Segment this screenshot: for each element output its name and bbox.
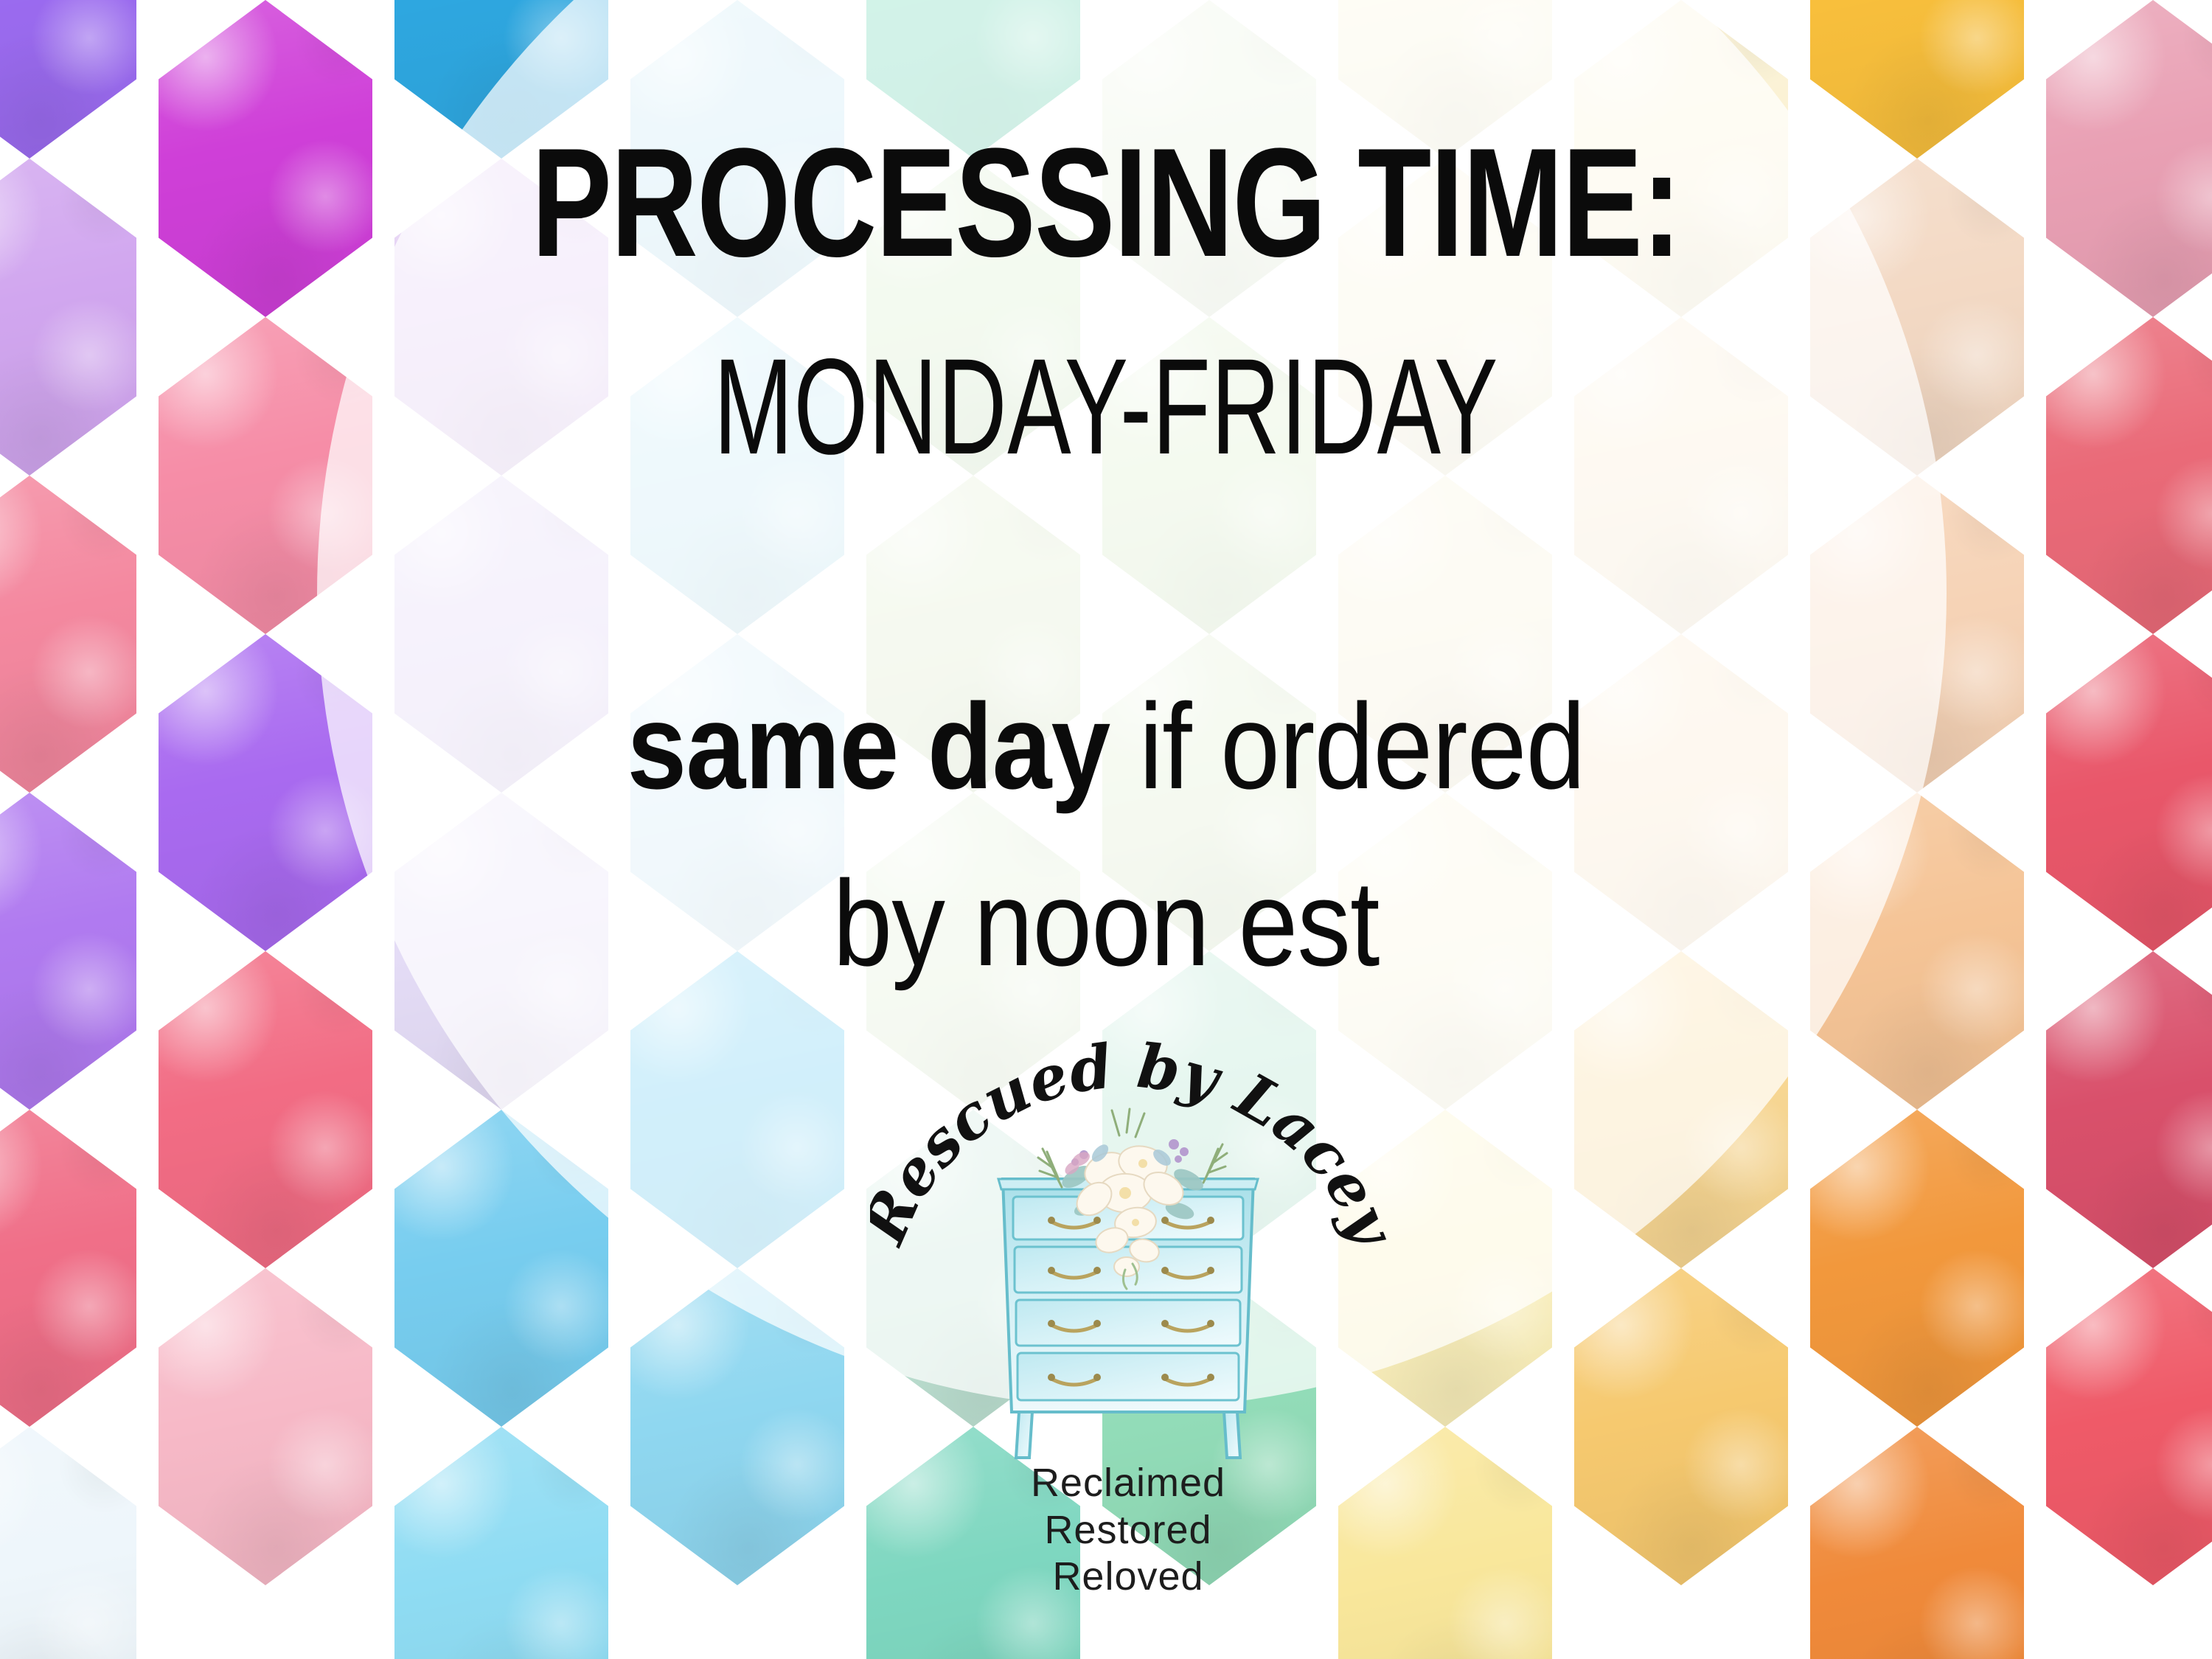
hexagon-tile — [2046, 0, 2212, 317]
hexagon-tile — [1574, 1268, 1788, 1585]
hexagon-tile — [1338, 1110, 1552, 1427]
hexagon-tile — [1102, 951, 1316, 1268]
hexagon-tile — [394, 1427, 608, 1659]
hexagon-tile — [630, 951, 844, 1268]
hexagon-tile — [1574, 317, 1788, 634]
hexagon-tile — [0, 0, 136, 159]
hexagon-tile — [1338, 476, 1552, 793]
hexagon-tile — [1810, 1110, 2024, 1427]
hexagon-tile — [1102, 317, 1316, 634]
hexagon-tile — [1338, 159, 1552, 476]
hexagon-tile — [159, 951, 372, 1268]
hexagon-tile — [1338, 793, 1552, 1110]
hexagon-tile — [394, 476, 608, 793]
hexagon-tile — [394, 0, 608, 159]
hexagon-tile — [866, 793, 1080, 1110]
hexagon-tile — [630, 1268, 844, 1585]
hexagon-tile — [1102, 0, 1316, 317]
hexagon-tile — [866, 159, 1080, 476]
hexagon-tile — [2046, 1268, 2212, 1585]
hexagon-tile — [159, 1268, 372, 1585]
hexagon-tile — [1574, 0, 1788, 317]
hexagon-tile — [1810, 159, 2024, 476]
hexagon-tile — [0, 159, 136, 476]
hexagon-tile — [159, 317, 372, 634]
hexagon-tile — [394, 1110, 608, 1427]
hexagon-tile — [2046, 951, 2212, 1268]
hexagon-tile — [0, 1427, 136, 1659]
hexagon-tile — [159, 0, 372, 317]
hexagon-tile — [0, 1110, 136, 1427]
hexagon-background — [0, 0, 2212, 1659]
hexagon-tile — [866, 0, 1080, 159]
hexagon-tile — [2046, 634, 2212, 951]
hexagon-tile — [1574, 951, 1788, 1268]
hexagon-tile — [630, 634, 844, 951]
hexagon-tile — [394, 159, 608, 476]
hexagon-tile — [159, 634, 372, 951]
hexagon-tile — [630, 317, 844, 634]
hexagon-tile — [1338, 1427, 1552, 1659]
hexagon-tile — [866, 1427, 1080, 1659]
hexagon-tile — [1574, 634, 1788, 951]
poster-canvas: PROCESSING TIME: MONDAY-FRIDAY same day … — [0, 0, 2212, 1659]
hexagon-tile — [1810, 793, 2024, 1110]
hexagon-tile — [1810, 476, 2024, 793]
hexagon-tile — [1810, 1427, 2024, 1659]
hexagon-tile — [2046, 317, 2212, 634]
hexagon-tile — [0, 476, 136, 793]
hexagon-tile — [1102, 1268, 1316, 1585]
hexagon-tile — [1810, 0, 2024, 159]
hexagon-tile — [1102, 634, 1316, 951]
hexagon-tile — [866, 1110, 1080, 1427]
hexagon-tile — [394, 793, 608, 1110]
hexagon-tile — [866, 476, 1080, 793]
hexagon-tile — [630, 0, 844, 317]
hexagon-tile — [1338, 0, 1552, 159]
hexagon-tile — [0, 793, 136, 1110]
